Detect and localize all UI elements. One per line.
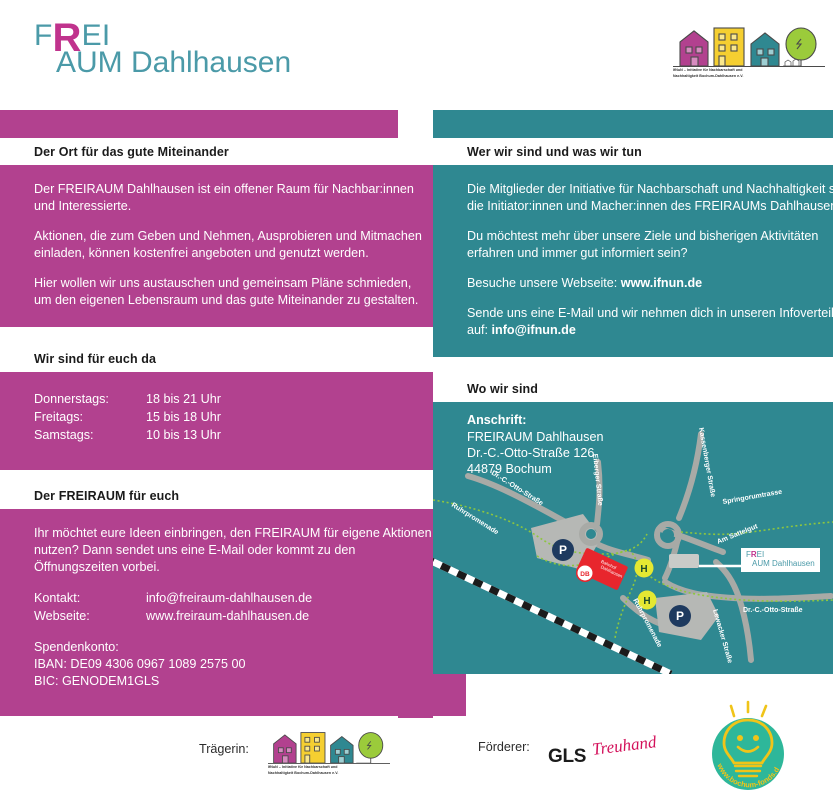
donation-block: Spendenkonto: IBAN: DE09 4306 0967 1089 … <box>34 639 432 690</box>
section-body-hours: Donnerstags: 18 bis 21 Uhr Freitags: 15 … <box>0 372 466 470</box>
houses-icon <box>268 730 390 764</box>
wer-paragraph-2: Du möchtest mehr über unsere Ziele und b… <box>467 228 833 262</box>
heading-hours: Wir sind für euch da <box>34 352 364 366</box>
callout-line-2: AUM Dahlhausen <box>752 559 815 568</box>
hours-time-3: 10 bis 13 Uhr <box>146 426 221 444</box>
svg-text:P: P <box>676 609 684 623</box>
map-graphic: DB Bahnhof Dahlhausen P P H <box>433 402 833 674</box>
callout-line-1: FREI <box>746 551 815 559</box>
freiraum-logo: FREI AUM Dahlhausen <box>34 22 291 78</box>
section-body-freiraum: Ihr möchtet eure Ideen einbringen, den F… <box>0 509 466 718</box>
table-row: Freitags: 15 bis 18 Uhr <box>34 408 221 426</box>
section-body-ort: Der FREIRAUM Dahlhausen ist ein offener … <box>0 165 466 327</box>
section-header-wo: Wo wir sind <box>433 375 833 402</box>
poster-page: FREI AUM Dahlhausen <box>0 0 833 795</box>
section-header-ort: Der Ort für das gute Miteinander <box>0 138 398 165</box>
donation-bic: BIC: GENODEM1GLS <box>34 673 432 690</box>
section-header-wer: Wer wir sind und was wir tun <box>433 138 833 165</box>
website-prefix: Besuche unsere Webseite: <box>467 276 621 290</box>
heading-freiraum: Der FREIRAUM für euch <box>34 489 364 503</box>
hours-day-3: Samstags: <box>34 426 146 444</box>
ifnun-caption-line-1: IfNuN – Initiative für Nachbarschaft und <box>673 68 825 73</box>
contact-value-1[interactable]: info@freiraum-dahlhausen.de <box>146 589 312 607</box>
opening-hours-table: Donnerstags: 18 bis 21 Uhr Freitags: 15 … <box>34 390 221 444</box>
logo-big-r: R <box>53 16 82 60</box>
contact-value-2[interactable]: www.freiraum-dahlhausen.de <box>146 607 312 625</box>
parking-marker-2: P <box>669 605 691 627</box>
hours-time-2: 15 bis 18 Uhr <box>146 408 221 426</box>
left-footer: Trägerin: <box>0 716 398 795</box>
freiraum-intro: Ihr möchtet eure Ideen einbringen, den F… <box>34 525 432 576</box>
section-header-freiraum: Der FREIRAUM für euch <box>0 482 398 509</box>
email-link[interactable]: info@ifnun.de <box>492 323 576 337</box>
svg-text:DB: DB <box>580 571 590 578</box>
ifnun-logo-footer: IfNuN – Initiative für Nachbarschaft und… <box>268 730 390 775</box>
table-row: Webseite: www.freiraum-dahlhausen.de <box>34 607 312 625</box>
ifnun-caption-line-1: IfNuN – Initiative für Nachbarschaft und <box>268 765 390 770</box>
table-row: Kontakt: info@freiraum-dahlhausen.de <box>34 589 312 607</box>
section-body-wer: Die Mitglieder der Initiative für Nachba… <box>433 165 833 357</box>
section-header-hours: Wir sind für euch da <box>0 345 398 372</box>
wer-paragraph-3: Besuche unsere Webseite: www.ifnun.de <box>467 275 833 292</box>
right-top-band <box>433 110 833 138</box>
parking-marker-1: P <box>552 539 574 561</box>
right-column: Wer wir sind und was wir tun Die Mitglie… <box>433 110 833 674</box>
foerderer-label: Förderer: <box>478 740 530 754</box>
left-gap-1 <box>0 327 398 345</box>
svg-text:H: H <box>643 596 650 607</box>
hours-day-2: Freitags: <box>34 408 146 426</box>
wer-paragraph-1: Die Mitglieder der Initiative für Nachba… <box>467 181 833 215</box>
svg-text:H: H <box>640 564 647 575</box>
table-row: Samstags: 10 bis 13 Uhr <box>34 426 221 444</box>
svg-text:P: P <box>559 543 567 557</box>
table-row: Donnerstags: 18 bis 21 Uhr <box>34 390 221 408</box>
bus-stop-marker-1: H <box>635 559 654 578</box>
donation-iban: IBAN: DE09 4306 0967 1089 2575 00 <box>34 656 432 673</box>
website-link[interactable]: www.ifnun.de <box>621 276 702 290</box>
heading-wo: Wo wir sind <box>467 382 799 396</box>
street-label-kassenberger: Kassenberger Straße <box>697 427 716 498</box>
donation-title: Spendenkonto: <box>34 639 432 656</box>
ort-paragraph-1: Der FREIRAUM Dahlhausen ist ein offener … <box>34 181 432 215</box>
bochum-fonds-logo: www.bochum-fonds.de <box>698 698 798 803</box>
hours-day-1: Donnerstags: <box>34 390 146 408</box>
logo-line-2: AUM Dahlhausen <box>56 48 291 78</box>
left-top-band <box>0 110 398 138</box>
street-label-ruhrpromenade-1: Ruhrpromenade <box>450 502 500 537</box>
ifnun-caption-line-2: Nachhaltigkeit Bochum-Dahlhausen e.V. <box>673 74 825 79</box>
gls-treuhand-logo: GLS Treuhand <box>548 746 586 768</box>
hours-time-1: 18 bis 21 Uhr <box>146 390 221 408</box>
contact-table: Kontakt: info@freiraum-dahlhausen.de Web… <box>34 589 312 625</box>
contact-key-2: Webseite: <box>34 607 146 625</box>
wer-paragraph-4: Sende uns eine E-Mail und wir nehmen dic… <box>467 305 833 339</box>
right-footer: Förderer: GLS Treuhand www.bochum <box>433 716 833 795</box>
heading-ort: Der Ort für das gute Miteinander <box>34 145 364 159</box>
freiraum-map-callout: FREI AUM Dahlhausen <box>741 548 820 572</box>
ifnun-logo-header: IfNuN – Initiative für Nachbarschaft und… <box>673 25 825 78</box>
gls-wordmark: GLS <box>548 746 586 767</box>
contact-key-1: Kontakt: <box>34 589 146 607</box>
lightbulb-icon: www.bochum-fonds.de <box>698 698 798 798</box>
traegerin-label: Trägerin: <box>199 742 249 756</box>
treuhand-wordmark: Treuhand <box>591 732 658 760</box>
ifnun-caption-line-2: Nachhaltigkeit Bochum-Dahlhausen e.V. <box>268 771 390 776</box>
street-label-otto-2: Dr.-C.-Otto-Straße <box>743 607 803 614</box>
street-label-eiberger: Eiberger Straße <box>591 453 603 506</box>
houses-icon <box>673 25 825 67</box>
street-label-springorum: Springorumtrasse <box>722 489 783 506</box>
heading-wer: Wer wir sind und was wir tun <box>467 145 799 159</box>
street-label-lewacker: Lewacker Straße <box>711 609 733 665</box>
left-column: Der Ort für das gute Miteinander Der FRE… <box>0 110 398 718</box>
left-gap-2 <box>0 470 398 482</box>
ort-paragraph-2: Aktionen, die zum Geben und Nehmen, Ausp… <box>34 228 432 262</box>
right-gap-1 <box>433 357 833 375</box>
location-map[interactable]: Anschrift: FREIRAUM Dahlhausen Dr.-C.-Ot… <box>433 402 833 674</box>
ort-paragraph-3: Hier wollen wir uns austauschen und geme… <box>34 275 432 309</box>
